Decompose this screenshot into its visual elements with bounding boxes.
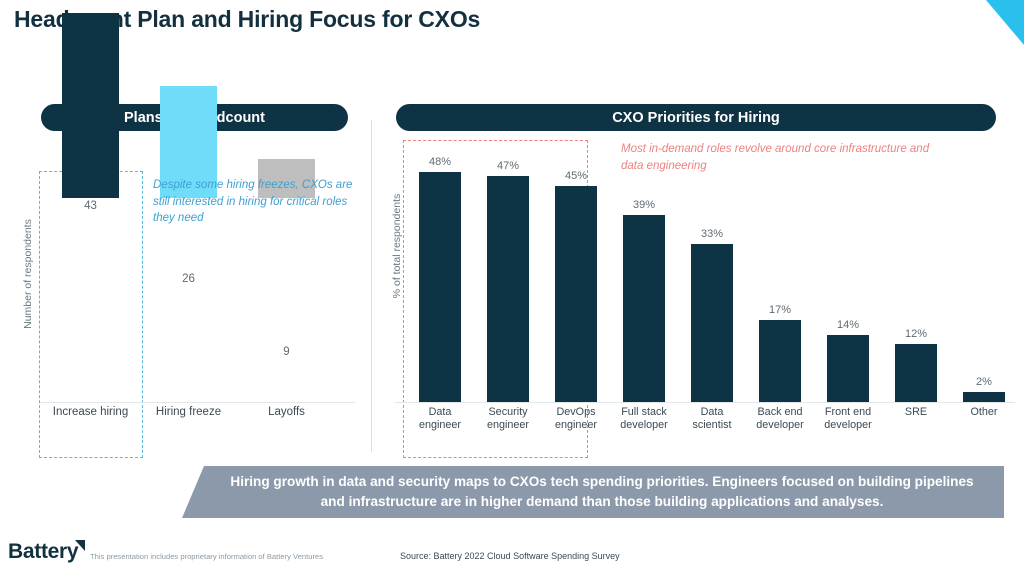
- x-axis-label-back-end-developer: Back enddeveloper: [743, 406, 817, 433]
- x-axis-label-data-scientist: Datascientist: [675, 406, 749, 433]
- bar-back-end-developer: [759, 320, 801, 402]
- corner-accent-triangle: [986, 0, 1024, 45]
- y-axis-label-left: Number of respondents: [22, 204, 34, 344]
- x-axis-label-other: Other: [947, 406, 1021, 419]
- bar-front-end-developer: [827, 335, 869, 402]
- bar-value-label: 26: [144, 273, 234, 285]
- summary-banner-text: Hiring growth in data and security maps …: [182, 472, 1004, 511]
- bar-value-label: 39%: [607, 199, 681, 211]
- bar-sre: [895, 344, 937, 402]
- bar-value-label: 12%: [879, 328, 953, 340]
- panel-header-cxo-priorities: CXO Priorities for Hiring: [396, 104, 996, 131]
- bar-value-label: 17%: [743, 304, 817, 316]
- annotation-right: Most in-demand roles revolve around core…: [621, 141, 951, 174]
- x-axis-label-sre: SRE: [879, 406, 953, 419]
- bar-security-engineer: [487, 176, 529, 402]
- bar-value-label: 2%: [947, 376, 1021, 388]
- x-axis-label-front-end-developer: Front enddeveloper: [811, 406, 885, 433]
- bar-data-scientist: [691, 244, 733, 402]
- battery-logo: Battery: [8, 540, 78, 564]
- bar-value-label: 14%: [811, 319, 885, 331]
- footer-source: Source: Battery 2022 Cloud Software Spen…: [400, 551, 620, 561]
- annotation-left: Despite some hiring freezes, CXOs are st…: [153, 177, 353, 227]
- x-axis-label-increase-hiring: Increase hiring: [36, 406, 146, 418]
- footer-disclaimer: This presentation includes proprietary i…: [90, 552, 323, 561]
- bar-other: [963, 392, 1005, 402]
- x-axis-label-hiring-freeze: Hiring freeze: [134, 406, 244, 418]
- bar-value-label: 9: [242, 346, 332, 358]
- chart-cxo-priorities: % of total respondents 48%Dataengineer47…: [371, 130, 1024, 450]
- x-axis-label-full-stack-developer: Full stackdeveloper: [607, 406, 681, 433]
- x-axis-label-devops-engineer: DevOpsengineer: [539, 406, 613, 433]
- y-axis-label-right: % of total respondents: [391, 176, 403, 316]
- chart-plans-for-headcount: Number of respondents 43Increase hiring2…: [0, 150, 371, 450]
- bar-increase-hiring: [62, 13, 119, 198]
- x-axis-baseline-right: [395, 402, 1015, 403]
- bar-value-label: 33%: [675, 228, 749, 240]
- bar-value-label: 48%: [403, 156, 477, 168]
- bar-value-label: 43: [46, 200, 136, 212]
- x-axis-label-data-engineer: Dataengineer: [403, 406, 477, 433]
- summary-banner: Hiring growth in data and security maps …: [182, 466, 1004, 518]
- x-axis-baseline-left: [40, 402, 355, 403]
- bar-data-engineer: [419, 172, 461, 402]
- bar-value-label: 47%: [471, 160, 545, 172]
- bar-value-label: 45%: [539, 170, 613, 182]
- x-axis-label-security-engineer: Securityengineer: [471, 406, 545, 433]
- bar-devops-engineer: [555, 186, 597, 402]
- bar-full-stack-developer: [623, 215, 665, 402]
- x-axis-label-layoffs: Layoffs: [232, 406, 342, 418]
